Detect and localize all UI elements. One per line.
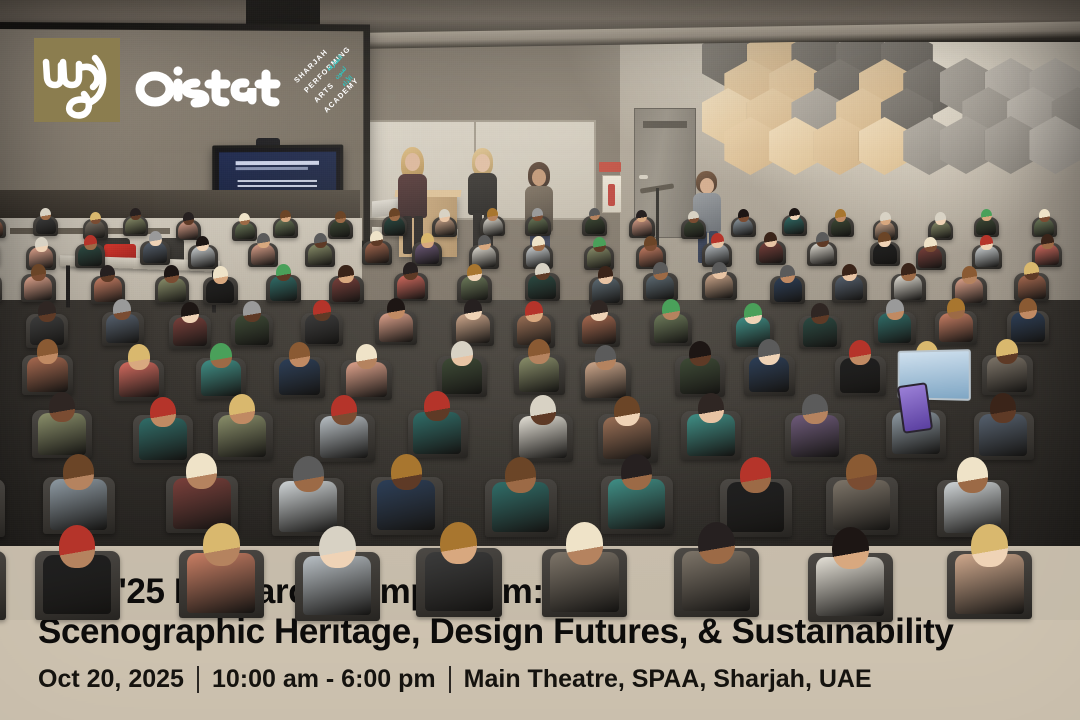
audience-member-head xyxy=(535,263,550,280)
slide-title-bar xyxy=(235,161,319,165)
audience-member-head xyxy=(487,208,498,221)
audience-member-head xyxy=(698,393,724,423)
audience-member-head xyxy=(789,208,800,221)
audience-member-head xyxy=(391,454,422,490)
audience-member-head xyxy=(84,235,97,250)
audience-member-head xyxy=(780,265,795,282)
audience-member-head xyxy=(532,236,545,251)
audience-member-head xyxy=(758,339,780,364)
oistat-logo xyxy=(133,56,281,112)
audience-member-head xyxy=(901,263,916,280)
event-time: 10:00 am - 6:00 pm xyxy=(212,665,436,694)
audience-member-head xyxy=(181,302,199,323)
audience-member-head xyxy=(150,397,176,427)
audience-member-head xyxy=(293,456,324,492)
audience-member-head xyxy=(38,301,56,322)
audience-member-head xyxy=(439,209,450,222)
audience-member-head xyxy=(689,341,711,366)
event-meta: Oct 20, 2025 10:00 am - 6:00 pm Main The… xyxy=(38,665,1060,694)
audience-member-head xyxy=(440,522,477,565)
audience-member-head xyxy=(816,232,829,247)
spaa-logo: SHARJAH PERFORMING ARTS ACADEMY الشارقة … xyxy=(292,38,370,120)
fire-extinguisher-cabinet xyxy=(602,175,622,213)
audience-member-head xyxy=(595,345,617,370)
audience-member-head xyxy=(924,237,937,252)
audience-member-head xyxy=(935,212,946,225)
audience-member-head xyxy=(31,264,46,281)
audience-member-head xyxy=(644,236,657,251)
door-vent xyxy=(643,121,687,128)
svg-text:لفنون: لفنون xyxy=(333,65,348,80)
audience-member-head xyxy=(593,237,606,252)
audience-member-head xyxy=(688,211,699,224)
audience-member-head xyxy=(996,339,1018,364)
audience-member-head xyxy=(164,265,179,282)
audience-member-head xyxy=(128,344,150,369)
audience-member-head xyxy=(210,343,232,368)
audience-member-head xyxy=(590,300,608,321)
audience-member-head xyxy=(196,236,209,251)
audience-member-head xyxy=(464,299,482,320)
audience-member-head xyxy=(229,394,255,424)
audience-member-head xyxy=(331,395,357,425)
audience-member-head xyxy=(356,344,378,369)
slide-subtitle-bar xyxy=(235,167,307,170)
audience-member-head xyxy=(653,262,668,279)
wsd-logo xyxy=(34,38,120,122)
audience-member-head xyxy=(243,301,261,322)
audience-member-head xyxy=(947,298,965,319)
audience-member-head xyxy=(314,233,327,248)
audience-member-head xyxy=(740,457,771,493)
audience-member-head xyxy=(203,523,240,566)
fire-extinguisher-sign xyxy=(599,162,621,172)
audience-member-head xyxy=(35,237,48,252)
audience-member-head xyxy=(387,298,405,319)
audience-member-head xyxy=(505,457,536,493)
audience-member-head xyxy=(811,303,829,324)
door-handle xyxy=(639,175,648,179)
audience-member-head xyxy=(451,341,473,366)
audience-member-head xyxy=(1019,298,1037,319)
audience-member-head xyxy=(478,235,491,250)
audience-member-head xyxy=(59,525,96,568)
audience-member-head xyxy=(130,208,141,221)
event-info-banner: WSD'25 Research Symposium: Scenographic … xyxy=(0,546,1080,720)
audience-member-head xyxy=(467,264,482,281)
audience-member-head xyxy=(846,454,877,490)
audience-member-head xyxy=(1024,262,1039,279)
audience-phone xyxy=(897,382,933,434)
theatre-seat xyxy=(0,479,5,537)
audience-member-head xyxy=(662,299,680,320)
audience-member-head xyxy=(981,209,992,222)
audience-member-head xyxy=(403,262,418,279)
audience-member-head xyxy=(183,212,194,225)
meta-separator xyxy=(197,666,199,693)
audience-member-head xyxy=(566,522,603,565)
audience-member-head xyxy=(370,231,383,246)
audience-member-head xyxy=(990,393,1016,423)
audience-member-head xyxy=(764,232,777,247)
audience-member-head xyxy=(239,213,250,226)
audience-member-head xyxy=(424,391,450,421)
audience-member-head xyxy=(528,339,550,364)
audience-member-head xyxy=(832,527,869,570)
meta-separator xyxy=(449,666,451,693)
audience-member-head xyxy=(1039,209,1050,222)
audience-member-head xyxy=(971,524,1008,567)
audience-member-head xyxy=(319,526,356,569)
theatre-seat xyxy=(0,551,6,620)
audience-member-head xyxy=(886,299,904,320)
audience-member-head xyxy=(598,266,613,283)
audience-member-head xyxy=(37,339,59,364)
audience-member-head xyxy=(614,396,640,426)
audience-member-head xyxy=(421,233,434,248)
event-date: Oct 20, 2025 xyxy=(38,665,184,694)
audience-member-head xyxy=(957,457,988,493)
audience-member-head xyxy=(698,522,735,565)
audience-member-head xyxy=(90,212,101,225)
audience-member-head xyxy=(712,262,727,279)
audience-member-head xyxy=(40,208,51,221)
audience-member-head xyxy=(149,231,162,246)
audience-member-head xyxy=(621,454,652,490)
audience-member-head xyxy=(525,301,543,322)
audience-member-head xyxy=(289,342,311,367)
audience-member-head xyxy=(835,209,846,222)
audience-member-head xyxy=(213,266,228,283)
audience-member-head xyxy=(338,265,353,282)
audience-member-head xyxy=(711,233,724,248)
audience-member-head xyxy=(276,264,291,281)
event-location: Main Theatre, SPAA, Sharjah, UAE xyxy=(464,665,872,694)
audience-member-head xyxy=(842,264,857,281)
audience-member-head xyxy=(744,303,762,324)
audience-member-head xyxy=(738,209,749,222)
audience-member-head xyxy=(313,300,331,321)
audience-member-head xyxy=(257,233,270,248)
audience-member-head xyxy=(49,392,75,422)
theatre-seat xyxy=(0,274,2,302)
audience-member-head xyxy=(63,454,94,490)
audience-member-head xyxy=(962,266,977,283)
audience-member-head xyxy=(389,208,400,221)
audience-member-head xyxy=(849,340,871,365)
audience-member-head xyxy=(880,212,891,225)
audience-member-head xyxy=(532,208,543,221)
audience-member-head xyxy=(280,210,291,223)
audience-member-head xyxy=(1041,234,1054,249)
audience-member-head xyxy=(113,299,131,320)
audience-member-head xyxy=(802,394,828,424)
hexagon-acoustic-panel-wall xyxy=(700,24,1080,192)
event-poster: SHARJAH PERFORMING ARTS ACADEMY الشارقة … xyxy=(0,0,1080,720)
audience-member-head xyxy=(186,453,217,489)
audience-member-head xyxy=(530,395,556,425)
audience-member-head xyxy=(335,211,346,224)
